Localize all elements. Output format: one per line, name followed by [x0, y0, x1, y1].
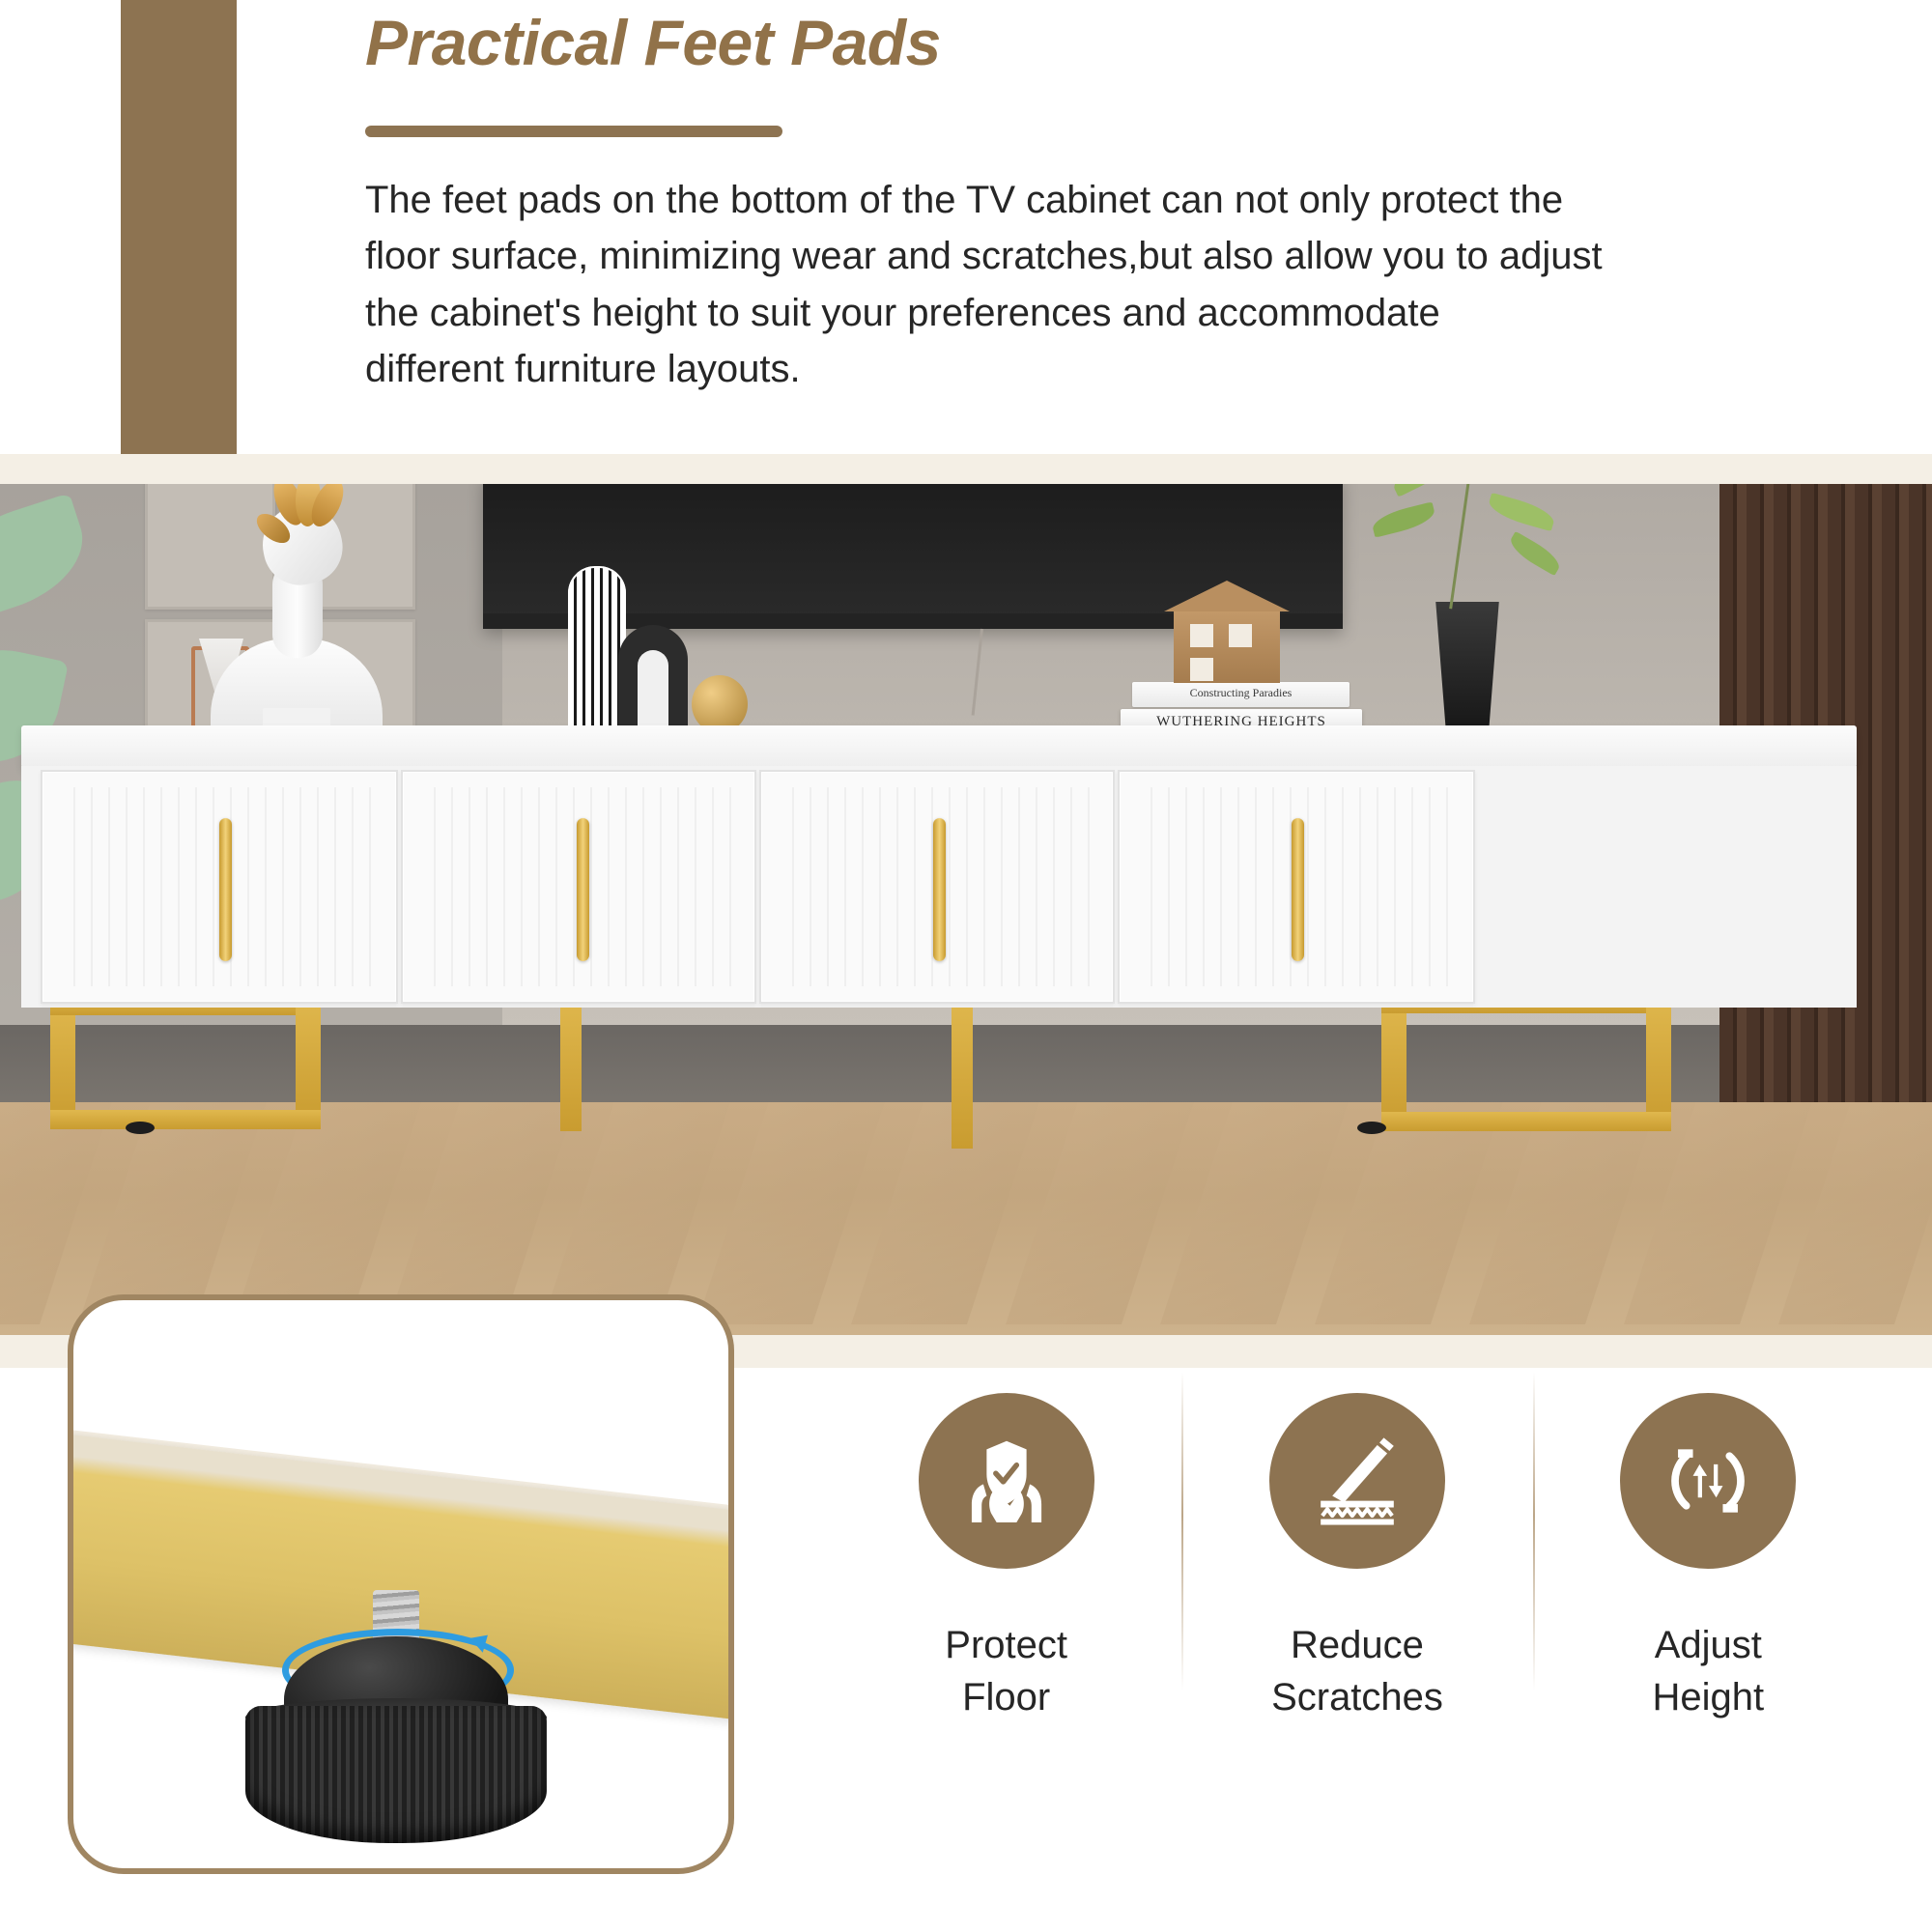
black-arch-decor-inner: [638, 650, 668, 735]
door-handle[interactable]: [933, 818, 946, 961]
feet-pad: [1357, 1122, 1386, 1134]
page-title: Practical Feet Pads: [365, 8, 1718, 78]
leg-frame-vertical: [50, 996, 75, 1126]
wooden-house-roof: [1164, 581, 1290, 611]
accent-bar: [121, 0, 237, 454]
leg-frame-vertical: [952, 994, 973, 1149]
cabinet-door[interactable]: [41, 770, 398, 1004]
feature-label-line: Floor: [945, 1671, 1067, 1723]
description-line: the cabinet's height to suit your prefer…: [365, 285, 1872, 341]
room-scene-photo: Constructing Paradies WUTHERING HEIGHTS: [0, 484, 1932, 1335]
feature-label-line: Adjust: [1653, 1619, 1765, 1671]
cabinet-top-surface: [21, 725, 1857, 768]
feature-item-reduce-scratches: Reduce Scratches: [1181, 1381, 1532, 1835]
cabinet-door[interactable]: [1118, 770, 1475, 1004]
leg-frame-vertical: [560, 994, 582, 1131]
wall-panel: [145, 484, 275, 610]
cabinet-door[interactable]: [401, 770, 756, 1004]
height-arrows-icon: [1620, 1393, 1796, 1569]
title-underline-rule: [365, 126, 782, 137]
feature-label-line: Height: [1653, 1671, 1765, 1723]
feature-item-protect-floor: Protect Floor: [831, 1381, 1181, 1835]
floor-chevron: [233, 1102, 424, 1324]
wooden-house-window: [1229, 624, 1252, 647]
feature-label-line: Reduce: [1271, 1619, 1443, 1671]
wooden-house-window: [1190, 658, 1213, 681]
cabinet-door[interactable]: [759, 770, 1115, 1004]
feature-label: Protect Floor: [945, 1619, 1067, 1723]
book-upper-title: Constructing Paradies: [1132, 686, 1350, 700]
door-handle[interactable]: [219, 818, 232, 961]
leg-frame-vertical: [1381, 994, 1406, 1129]
door-handle[interactable]: [1292, 818, 1304, 961]
door-handle[interactable]: [577, 818, 589, 961]
floor-chevron: [387, 1102, 579, 1324]
description-line: The feet pads on the bottom of the TV ca…: [365, 172, 1872, 228]
header-section: Practical Feet Pads The feet pads on the…: [0, 0, 1932, 454]
floor-chevron: [1160, 1102, 1351, 1324]
description-line: floor surface, minimizing wear and scrat…: [365, 228, 1872, 284]
wooden-house-window: [1190, 624, 1213, 647]
floor-chevron: [1315, 1102, 1506, 1324]
floor-chevron: [1469, 1102, 1661, 1324]
floor-chevron: [1778, 1102, 1932, 1324]
feature-label-line: Scratches: [1271, 1671, 1443, 1723]
feature-list: Protect Floor Reduce Scratches: [831, 1381, 1884, 1835]
leg-frame-vertical: [1646, 992, 1671, 1127]
feature-label: Adjust Height: [1653, 1619, 1765, 1723]
shield-hands-icon: [919, 1393, 1094, 1569]
floor-chevron: [542, 1102, 733, 1324]
leg-frame-vertical: [296, 994, 321, 1124]
description-line: different furniture layouts.: [365, 341, 1872, 397]
gold-pebble-decor: [692, 675, 748, 733]
feature-label-line: Protect: [945, 1619, 1067, 1671]
floor-chevron: [78, 1102, 270, 1324]
leg-frame-base: [50, 1110, 321, 1129]
feature-item-adjust-height: Adjust Height: [1533, 1381, 1884, 1835]
feature-label: Reduce Scratches: [1271, 1619, 1443, 1723]
floor-chevron: [696, 1102, 888, 1324]
floor-chevron: [1624, 1102, 1815, 1324]
feet-pad: [126, 1122, 155, 1134]
striped-decor-object: [568, 566, 626, 735]
infographic-page: Practical Feet Pads The feet pads on the…: [0, 0, 1932, 1932]
floor-chevron: [851, 1102, 1042, 1324]
leg-frame-base: [1381, 1112, 1671, 1131]
blade-floor-icon: [1269, 1393, 1445, 1569]
wall-baseboard: [0, 1025, 1719, 1104]
feet-pad-closeup-inset: [68, 1294, 734, 1874]
feet-pad-base: [245, 1706, 547, 1843]
description-text: The feet pads on the bottom of the TV ca…: [365, 172, 1872, 398]
floor-chevron: [1006, 1102, 1197, 1324]
divider-band-top: [0, 454, 1932, 484]
